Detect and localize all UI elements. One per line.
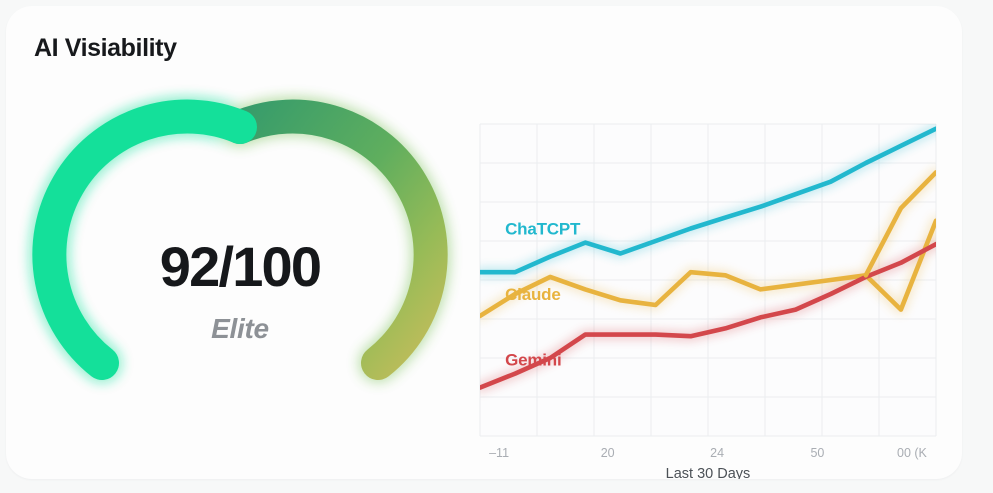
gauge-track-remaining xyxy=(240,117,431,363)
gauge-panel: 92/100 Elite xyxy=(26,91,456,421)
series-label-claude: Claude xyxy=(505,285,560,304)
xtick-label: 50 xyxy=(810,446,824,460)
series-label-gemini: Gemini xyxy=(505,351,561,370)
gauge-track-filled xyxy=(49,117,240,363)
gauge-arc-svg xyxy=(60,101,420,391)
trend-chart-panel: –1120245000 (K Last 30 Days ChaTCPT Clau… xyxy=(468,116,948,479)
ai-visibility-card: AI Visiability xyxy=(6,6,962,479)
chart-axis-title: Last 30 Days xyxy=(666,466,751,479)
trend-chart-svg: –1120245000 (K Last 30 Days ChaTCPT Clau… xyxy=(468,116,948,479)
series-label-chatgpt: ChaTCPT xyxy=(505,220,581,239)
xtick-label: –11 xyxy=(489,446,509,460)
xtick-label: 20 xyxy=(601,446,615,460)
xtick-label: 24 xyxy=(710,446,724,460)
page-root: AI Visiability xyxy=(0,0,993,493)
gauge-widget: 92/100 Elite xyxy=(60,101,420,391)
chart-xtick-labels: –1120245000 (K xyxy=(489,446,927,460)
xtick-label: 00 (K xyxy=(897,446,928,460)
page-title: AI Visiability xyxy=(34,34,177,63)
